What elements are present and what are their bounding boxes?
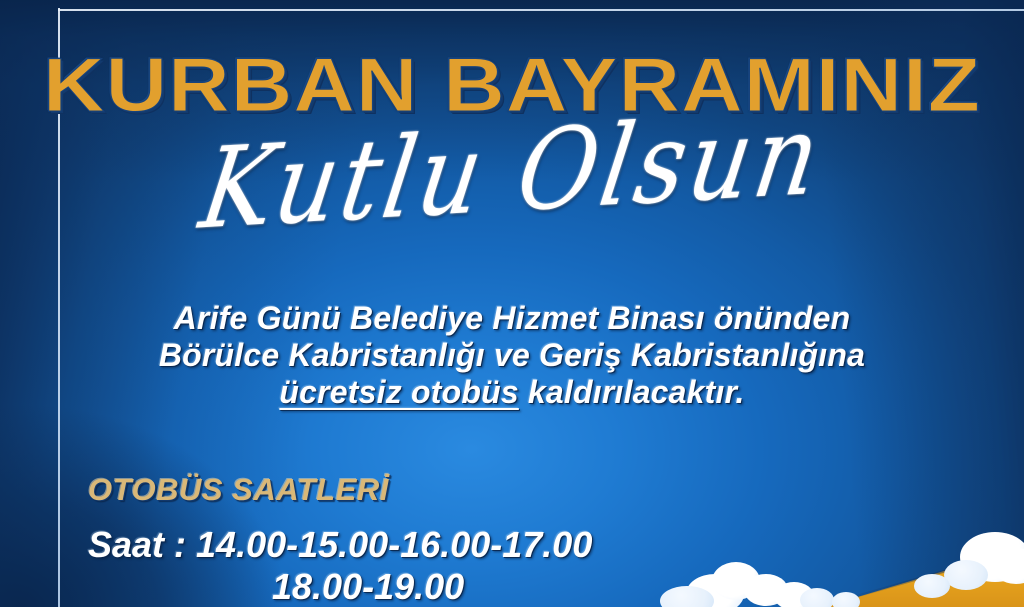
announcement-body: Arife Günü Belediye Hizmet Binası önünde… xyxy=(0,300,1024,411)
schedule-heading: OTOBÜS SAATLERİ xyxy=(88,472,389,508)
cloud-icon xyxy=(800,588,834,607)
announcement-line-3: ücretsiz otobüs kaldırılacaktır. xyxy=(0,374,1024,411)
cloud-icon xyxy=(914,574,950,598)
frame-border-top xyxy=(58,9,1024,11)
schedule-times-line-1: Saat : 14.00-15.00-16.00-17.00 xyxy=(88,524,592,566)
announcement-underlined-phrase: ücretsiz otobüs xyxy=(279,374,518,410)
schedule-times-line-2: 18.00-19.00 xyxy=(272,566,464,607)
cloud-icon xyxy=(944,560,988,590)
greeting-poster: KURBAN BAYRAMINIZ Kutlu Olsun Arife Günü… xyxy=(0,0,1024,607)
announcement-line-3-rest: kaldırılacaktır. xyxy=(519,374,745,410)
cloud-icon xyxy=(832,592,860,607)
announcement-line-2: Börülce Kabristanlığı ve Geriş Kabristan… xyxy=(0,337,1024,374)
announcement-line-1: Arife Günü Belediye Hizmet Binası önünde… xyxy=(0,300,1024,337)
